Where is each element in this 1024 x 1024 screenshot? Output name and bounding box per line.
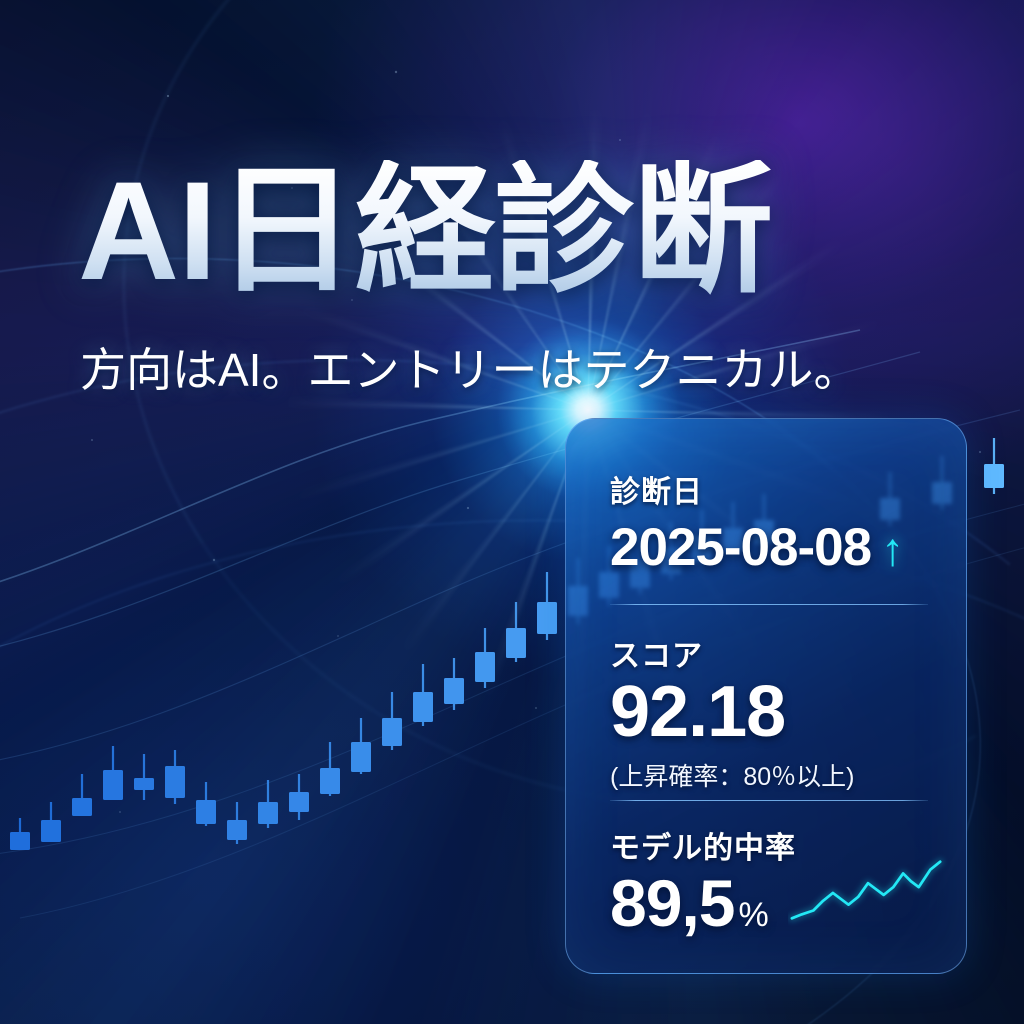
candlestick xyxy=(382,692,402,750)
score-label-row: スコア xyxy=(610,631,930,675)
date-label-row: 診断日 xyxy=(610,467,930,511)
candlestick xyxy=(134,754,154,800)
score-value: 92.18 xyxy=(610,671,930,753)
candlestick xyxy=(227,802,247,844)
candlestick xyxy=(537,572,557,640)
candlestick xyxy=(258,780,278,828)
candlestick xyxy=(10,818,30,850)
candlestick xyxy=(506,602,526,662)
candlestick xyxy=(41,802,61,842)
candlestick xyxy=(444,658,464,710)
score-label: スコア xyxy=(610,631,930,675)
candlestick xyxy=(289,774,309,820)
candlestick xyxy=(413,664,433,726)
divider-2 xyxy=(610,800,928,801)
date-value-wrap: 2025-08-08 ↑ xyxy=(610,517,930,578)
accuracy-value: 89,5 xyxy=(610,865,734,941)
poster-canvas: AI日経診断 方向はAI。エントリーはテクニカル。 診断日 2025-08-08… xyxy=(0,0,1024,1024)
accuracy-sparkline xyxy=(788,853,948,929)
score-value-row: 92.18 xyxy=(610,671,930,753)
candlestick xyxy=(165,750,185,804)
score-note-row: (上昇確率：80％以上) xyxy=(610,757,930,793)
date-value: 2025-08-08 xyxy=(610,517,871,578)
candlestick xyxy=(196,782,216,826)
date-value-row: 2025-08-08 ↑ xyxy=(610,517,930,578)
candlestick xyxy=(351,718,371,774)
page-subtitle: 方向はAI。エントリーはテクニカル。 xyxy=(80,334,910,400)
divider-1 xyxy=(610,604,928,605)
trend-up-arrow-icon: ↑ xyxy=(881,522,903,576)
accuracy-percent-sign: % xyxy=(738,896,767,935)
score-note: (上昇確率：80％以上) xyxy=(610,757,930,793)
candlestick xyxy=(475,628,495,688)
page-title: AI日経診断 xyxy=(78,160,878,303)
date-label: 診断日 xyxy=(610,467,930,511)
candlestick xyxy=(984,438,1004,494)
candlestick xyxy=(72,774,92,816)
candlestick xyxy=(320,742,340,796)
diagnosis-card: 診断日 2025-08-08 ↑ スコア 92.18 (上昇確率：80％以上) … xyxy=(565,418,967,974)
candlestick xyxy=(103,746,123,800)
